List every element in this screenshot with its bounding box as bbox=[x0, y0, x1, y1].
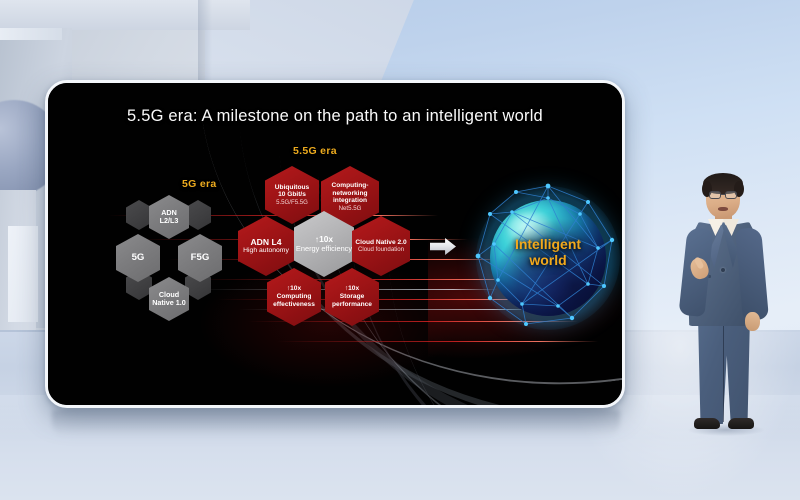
hex-cloud-native-1[interactable]: Cloud Native 1.0 bbox=[149, 277, 189, 321]
hex-line: integration bbox=[333, 197, 367, 205]
hex-line: ↑10x bbox=[345, 285, 359, 293]
hex-ubiquitous-10gbits[interactable]: Ubiquitous 10 Gbit/s 5.5G/F5.5G bbox=[265, 166, 319, 224]
presenter-mouth bbox=[718, 207, 728, 211]
intelligent-world-globe[interactable]: Intelligent world bbox=[468, 178, 622, 338]
wall-white-box bbox=[8, 226, 38, 322]
ceiling-band bbox=[0, 0, 250, 30]
hex-line: Ubiquitous bbox=[275, 184, 309, 192]
slide-title: 5.5G era: A milestone on the path to an … bbox=[48, 107, 622, 126]
hex-line: Energy efficiency bbox=[296, 245, 352, 254]
hex-line: L2/L3 bbox=[160, 217, 179, 225]
hex-adn-l4[interactable]: ADN L4 High autonomy bbox=[238, 216, 294, 276]
presentation-stage: 5.5G era: A milestone on the path to an … bbox=[0, 0, 800, 500]
presenter-glasses-left-lens bbox=[709, 191, 721, 199]
hex-computing-effectiveness[interactable]: ↑10x Computing effectiveness bbox=[267, 268, 321, 326]
slide-canvas: 5.5G era: A milestone on the path to an … bbox=[48, 83, 622, 405]
hex-line: Native 1.0 bbox=[152, 299, 186, 307]
red-ray bbox=[278, 341, 598, 342]
globe-label: Intelligent world bbox=[468, 236, 622, 268]
presenter-hand-right bbox=[745, 312, 760, 331]
slide-panel-reflection bbox=[52, 410, 620, 436]
presenter-glasses-bridge bbox=[721, 194, 725, 195]
presentation-slide-panel[interactable]: 5.5G era: A milestone on the path to an … bbox=[45, 80, 625, 408]
hex-line: performance bbox=[332, 301, 372, 309]
presenter-leg-seam bbox=[723, 322, 724, 422]
hex-line: networking bbox=[332, 190, 367, 198]
hex-line: Cloud foundation bbox=[358, 246, 404, 253]
hex-adn-l2-l3[interactable]: ADN L2/L3 bbox=[149, 195, 189, 239]
era-label-5g: 5G era bbox=[182, 178, 217, 190]
hex-f5g[interactable]: F5G bbox=[178, 234, 222, 282]
hex-line: effectiveness bbox=[273, 301, 315, 309]
presenter bbox=[666, 172, 782, 452]
wall-panel-highlight bbox=[0, 28, 62, 40]
hex-storage-performance[interactable]: ↑10x Storage performance bbox=[325, 268, 379, 326]
hex-line: 5.5G/F5.5G bbox=[276, 199, 308, 206]
red-glow bbox=[198, 258, 458, 388]
globe-label-line2: world bbox=[468, 252, 622, 268]
presenter-glasses-right-lens bbox=[725, 191, 737, 199]
decorative-hexagon bbox=[126, 200, 152, 230]
arrow-55g-to-world-icon bbox=[430, 238, 456, 255]
hex-5g[interactable]: 5G bbox=[116, 234, 160, 282]
hex-line: Cloud Native 2.0 bbox=[355, 239, 406, 247]
presenter-shoe-right bbox=[728, 418, 754, 429]
hex-line: F5G bbox=[191, 252, 210, 263]
hex-line: Computing bbox=[277, 293, 312, 301]
hex-line: Storage bbox=[340, 293, 365, 301]
hex-line: 10 Gbit/s bbox=[278, 191, 306, 199]
hex-line: Computing- bbox=[332, 182, 369, 190]
era-label-55g: 5.5G era bbox=[293, 145, 337, 157]
hex-line: ADN L4 bbox=[250, 237, 281, 247]
hex-line: 5G bbox=[132, 252, 145, 263]
hex-line: ↑10x bbox=[287, 285, 301, 293]
hex-line: Net5.5G bbox=[339, 205, 362, 212]
hex-cloud-native-2[interactable]: Cloud Native 2.0 Cloud foundation bbox=[352, 216, 410, 276]
presenter-jacket-button bbox=[721, 268, 725, 272]
hex-line: High autonomy bbox=[243, 247, 289, 255]
globe-label-line1: Intelligent bbox=[468, 236, 622, 252]
presenter-shoe-left bbox=[694, 418, 720, 429]
